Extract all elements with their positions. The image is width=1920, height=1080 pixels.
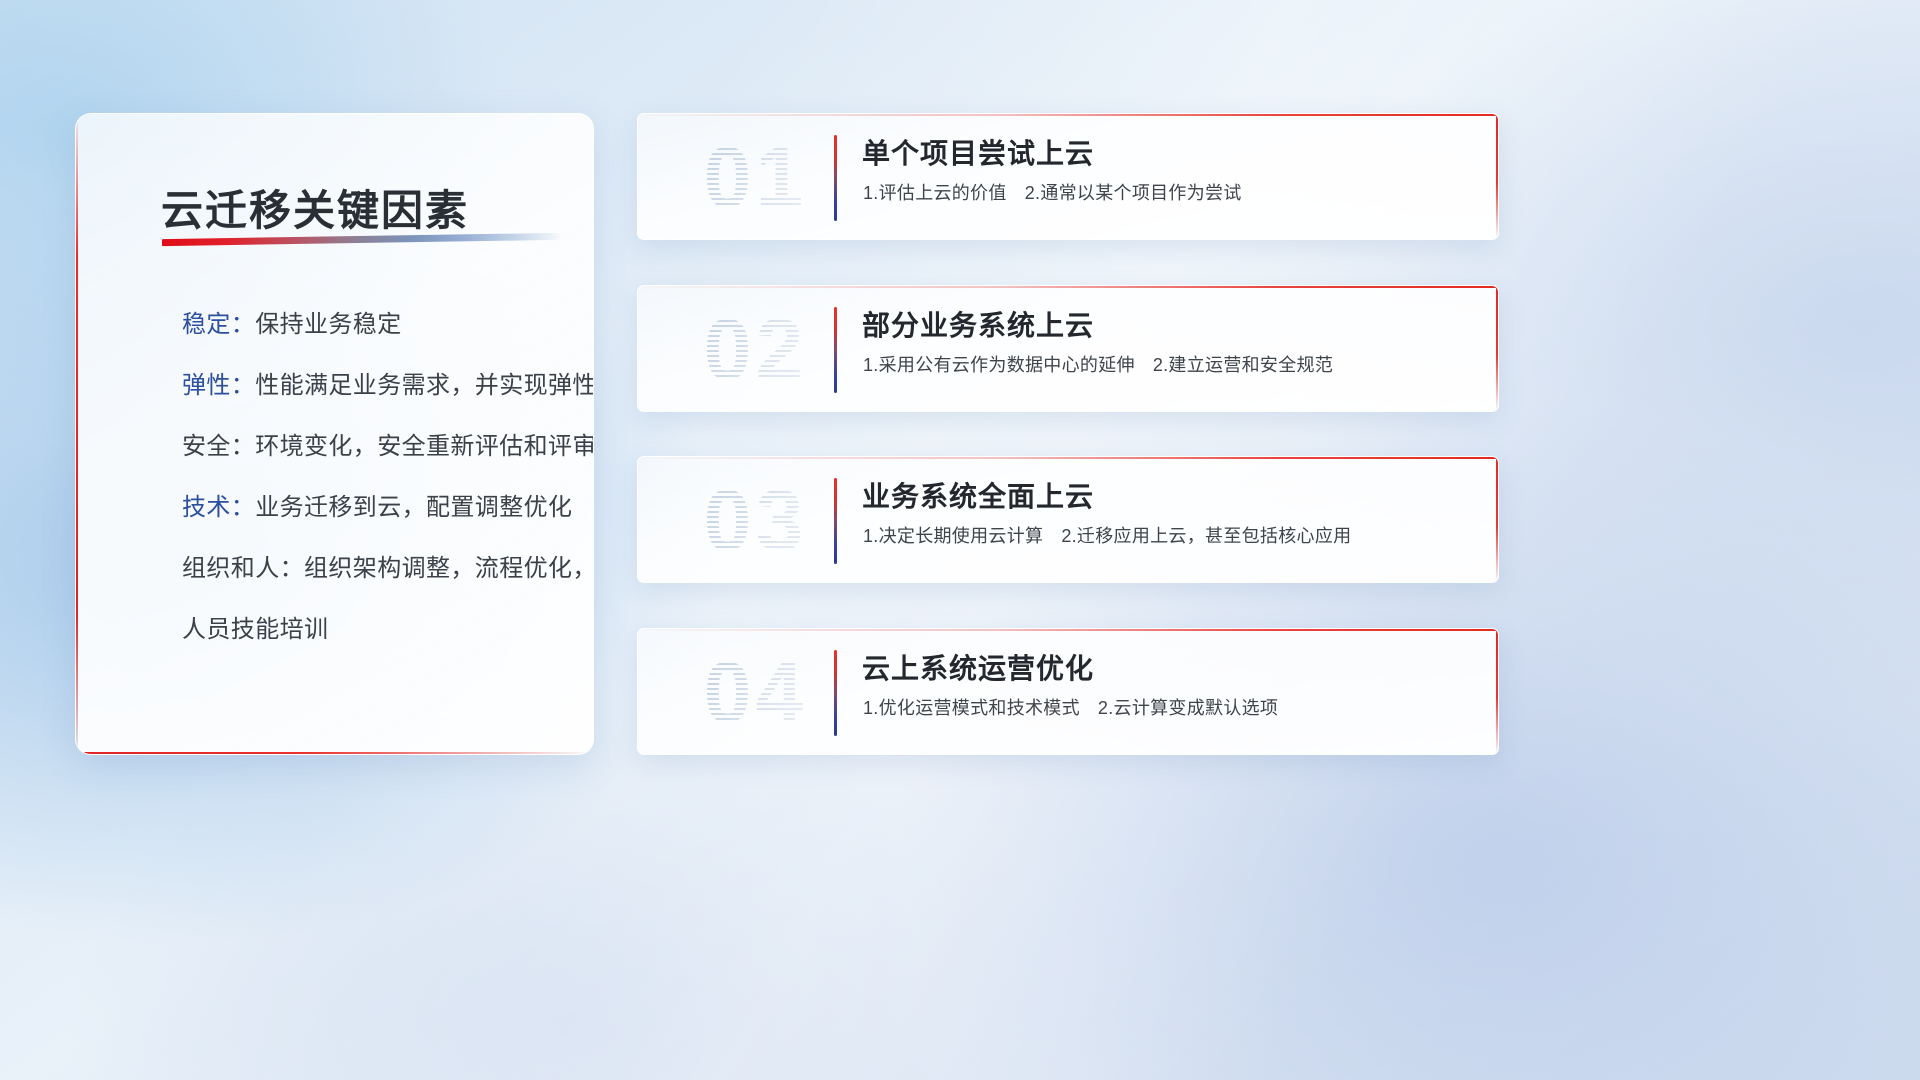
list-item: 技术：业务迁移到云，配置调整优化 xyxy=(106,477,575,538)
list-item-label: 安全： xyxy=(182,433,255,460)
list-item-label: 稳定： xyxy=(182,311,255,338)
list-item: 组织和人：组织架构调整，流程优化， xyxy=(106,538,575,599)
list-item: 稳定：保持业务稳定 xyxy=(106,294,575,355)
list-item: 安全：环境变化，安全重新评估和评审 xyxy=(106,416,575,477)
step-description-part-2: 2.通常以某个项目作为尝试 xyxy=(1025,183,1242,203)
list-item-text: 人员技能培训 xyxy=(182,616,328,643)
key-factors-card: 云迁移关键因素 稳定：保持业务稳定 弹性：性能满足业务需求，并实现弹性 安全：环… xyxy=(75,113,594,755)
step-number-04: 04 xyxy=(668,643,843,743)
list-item-text: 性能满足业务需求，并实现弹性 xyxy=(255,372,594,399)
step-card-01[interactable]: 01 单个项目尝试上云 1.评估上云的价值2.通常以某个项目作为尝试 xyxy=(637,113,1499,240)
step-description-part-2: 2.迁移应用上云，甚至包括核心应用 xyxy=(1061,526,1351,546)
step-number-03: 03 xyxy=(668,471,843,571)
step-description: 1.决定长期使用云计算2.迁移应用上云，甚至包括核心应用 xyxy=(863,522,1351,548)
list-item-text: 业务迁移到云，配置调整优化 xyxy=(255,494,572,521)
key-factors-list: 稳定：保持业务稳定 弹性：性能满足业务需求，并实现弹性 安全：环境变化，安全重新… xyxy=(106,294,575,660)
step-title: 部分业务系统上云 xyxy=(862,304,1094,344)
step-title: 业务系统全面上云 xyxy=(862,475,1094,515)
slide-canvas: 云迁移关键因素 稳定：保持业务稳定 弹性：性能满足业务需求，并实现弹性 安全：环… xyxy=(0,0,1920,1080)
page-title: 云迁移关键因素 xyxy=(161,177,469,238)
step-description-part-1: 1.评估上云的价值 xyxy=(863,183,1007,203)
step-divider xyxy=(834,307,837,393)
step-divider xyxy=(834,135,837,221)
step-description-part-2: 2.建立运营和安全规范 xyxy=(1153,355,1333,375)
step-description-part-1: 1.决定长期使用云计算 xyxy=(863,526,1043,546)
step-description: 1.评估上云的价值2.通常以某个项目作为尝试 xyxy=(863,179,1242,205)
step-title: 云上系统运营优化 xyxy=(862,647,1094,687)
step-card-02[interactable]: 02 部分业务系统上云 1.采用公有云作为数据中心的延伸2.建立运营和安全规范 xyxy=(637,285,1499,412)
step-description-part-1: 1.采用公有云作为数据中心的延伸 xyxy=(863,355,1135,375)
list-item: 弹性：性能满足业务需求，并实现弹性 xyxy=(106,355,575,416)
step-card-03[interactable]: 03 业务系统全面上云 1.决定长期使用云计算2.迁移应用上云，甚至包括核心应用 xyxy=(637,456,1499,583)
step-number-01: 01 xyxy=(668,128,843,228)
step-description-part-2: 2.云计算变成默认选项 xyxy=(1098,698,1278,718)
step-description: 1.采用公有云作为数据中心的延伸2.建立运营和安全规范 xyxy=(863,351,1333,377)
step-description-part-1: 1.优化运营模式和技术模式 xyxy=(863,698,1080,718)
step-divider xyxy=(834,650,837,736)
step-title: 单个项目尝试上云 xyxy=(862,132,1094,172)
list-item-label: 弹性： xyxy=(182,372,255,399)
step-number-02: 02 xyxy=(668,300,843,400)
step-divider xyxy=(834,478,837,564)
list-item: 人员技能培训 xyxy=(106,599,575,660)
list-item-text: 环境变化，安全重新评估和评审 xyxy=(255,433,594,460)
list-item-text: 保持业务稳定 xyxy=(255,311,401,338)
list-item-text: 组织架构调整，流程优化， xyxy=(304,555,594,582)
list-item-label: 组织和人： xyxy=(182,555,304,582)
list-item-label: 技术： xyxy=(182,494,255,521)
step-card-04[interactable]: 04 云上系统运营优化 1.优化运营模式和技术模式2.云计算变成默认选项 xyxy=(637,628,1499,755)
step-description: 1.优化运营模式和技术模式2.云计算变成默认选项 xyxy=(863,694,1278,720)
